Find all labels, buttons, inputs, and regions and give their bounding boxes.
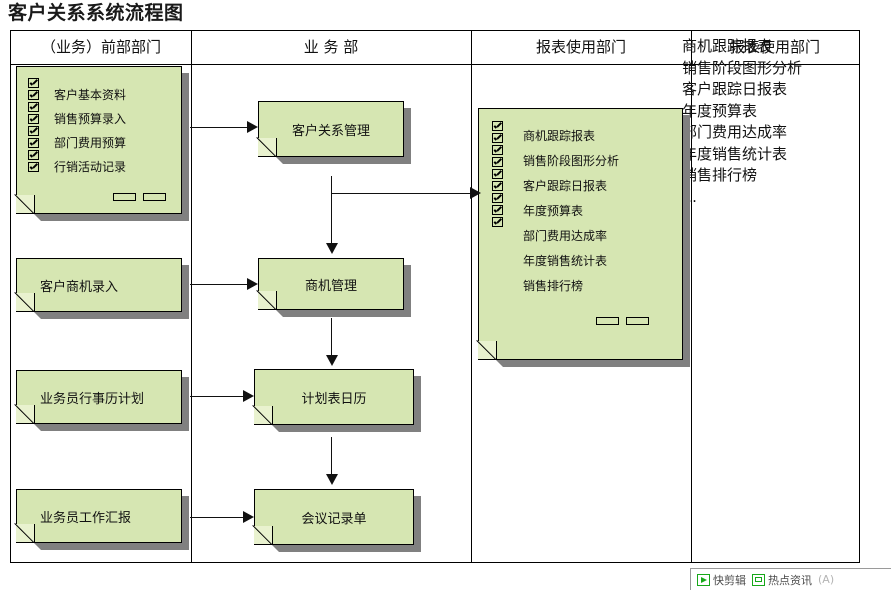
connector-line: [190, 127, 248, 128]
report-list-item: 商机跟踪报表: [682, 36, 850, 58]
news-icon[interactable]: [752, 574, 765, 586]
doc-label: 客户关系管理: [258, 101, 404, 157]
page-title: 客户关系系统流程图: [8, 0, 184, 26]
doc-line: 销售排行榜: [523, 274, 619, 299]
connector-arrow-down: [326, 474, 338, 485]
report-list-ellipsis: …: [682, 187, 850, 209]
doc-schedule-calendar[interactable]: 计划表日历: [254, 369, 414, 425]
doc-line: 部门费用达成率: [523, 224, 619, 249]
report-list-item: 销售阶段图形分析: [682, 58, 850, 80]
doc-line: 年度预算表: [523, 199, 619, 224]
connector-arrow-down: [326, 355, 338, 366]
doc-line-list: 商机跟踪报表 销售阶段图形分析 客户跟踪日报表 年度预算表 部门费用达成率 年度…: [523, 124, 619, 299]
connector-line-vertical: [331, 318, 332, 356]
doc-line: 销售预算录入: [54, 107, 126, 131]
checkbox-icon[interactable]: [28, 138, 39, 148]
doc-line: 年度销售统计表: [523, 249, 619, 274]
checkbox-icon[interactable]: [28, 114, 39, 124]
checkbox-icon[interactable]: [492, 121, 503, 131]
report-list-item: 年度预算表: [682, 101, 850, 123]
doc-fold-corner: [16, 195, 35, 214]
checkbox-icon[interactable]: [28, 78, 39, 88]
toolbar-item-quick-clip[interactable]: 快剪辑: [697, 572, 746, 588]
doc-line: 部门费用预算: [54, 131, 126, 155]
checkbox-icon[interactable]: [492, 133, 503, 143]
checkbox-icon[interactable]: [28, 102, 39, 112]
toolbar-item-circle-a[interactable]: (A): [818, 574, 831, 586]
doc-button[interactable]: [113, 193, 136, 201]
doc-meeting-minutes[interactable]: 会议记录单: [254, 489, 414, 545]
checkbox-icon[interactable]: [492, 145, 503, 155]
doc-button[interactable]: [626, 317, 649, 325]
connector-arrow-right: [470, 187, 481, 199]
checkbox-icon[interactable]: [28, 162, 39, 172]
checkbox-icon[interactable]: [28, 126, 39, 136]
connector-line-vertical: [331, 176, 332, 244]
doc-line-list: 客户基本资料 销售预算录入 部门费用预算 行销活动记录: [54, 83, 126, 179]
connector-line: [331, 193, 471, 194]
doc-line: 客户跟踪日报表: [523, 174, 619, 199]
doc-label: 会议记录单: [254, 489, 414, 545]
checkbox-icon[interactable]: [492, 193, 503, 203]
column-divider-2: [471, 31, 472, 562]
doc-label: 计划表日历: [254, 369, 414, 425]
column-header-business-dept: 业 务 部: [191, 31, 471, 64]
connector-line: [190, 517, 244, 518]
doc-button-group[interactable]: [596, 317, 649, 325]
doc-crm-management[interactable]: 客户关系管理: [258, 101, 404, 157]
report-list-item: 部门费用达成率: [682, 122, 850, 144]
doc-label: 业务员行事历计划: [16, 370, 206, 424]
circle-a-icon[interactable]: (A): [818, 574, 831, 586]
connector-arrow-right: [247, 278, 258, 290]
doc-customer-opportunity-entry[interactable]: 客户商机录入: [16, 258, 182, 312]
doc-salesperson-calendar-plan[interactable]: 业务员行事历计划: [16, 370, 182, 424]
doc-line: 客户基本资料: [54, 83, 126, 107]
report-list-item: 客户跟踪日报表: [682, 79, 850, 101]
doc-line: 销售阶段图形分析: [523, 149, 619, 174]
connector-arrow-right: [243, 390, 254, 402]
checkbox-icon[interactable]: [492, 181, 503, 191]
checkbox-column: [28, 78, 39, 174]
play-icon[interactable]: [697, 574, 710, 586]
doc-button-group[interactable]: [113, 193, 166, 201]
doc-line: 商机跟踪报表: [523, 124, 619, 149]
checkbox-icon[interactable]: [28, 150, 39, 160]
doc-line: 行销活动记录: [54, 155, 126, 179]
connector-line: [190, 396, 244, 397]
report-name-list: 商机跟踪报表 销售阶段图形分析 客户跟踪日报表 年度预算表 部门费用达成率 年度…: [682, 36, 850, 208]
doc-report-output[interactable]: 商机跟踪报表 销售阶段图形分析 客户跟踪日报表 年度预算表 部门费用达成率 年度…: [478, 108, 683, 360]
checkbox-column: [492, 121, 503, 229]
checkbox-icon[interactable]: [492, 217, 503, 227]
doc-opportunity-management[interactable]: 商机管理: [258, 258, 404, 310]
doc-label: 商机管理: [258, 258, 404, 310]
toolbar-item-label: 热点资讯: [768, 572, 812, 588]
doc-label: 业务员工作汇报: [16, 489, 206, 543]
doc-button[interactable]: [596, 317, 619, 325]
report-list-item: 销售排行榜: [682, 165, 850, 187]
doc-button[interactable]: [143, 193, 166, 201]
bottom-toolbar[interactable]: 快剪辑 热点资讯 (A): [690, 568, 891, 590]
connector-arrow-right: [243, 511, 254, 523]
connector-arrow-right: [247, 121, 258, 133]
connector-line: [190, 284, 248, 285]
doc-fold-corner: [478, 341, 497, 360]
checkbox-icon[interactable]: [28, 90, 39, 100]
column-header-report-users-1: 报表使用部门: [471, 31, 691, 64]
checkbox-icon[interactable]: [492, 157, 503, 167]
toolbar-item-label: 快剪辑: [713, 572, 746, 588]
doc-customer-data-entry[interactable]: 客户基本资料 销售预算录入 部门费用预算 行销活动记录: [16, 66, 182, 214]
checkbox-icon[interactable]: [492, 169, 503, 179]
connector-line-vertical: [331, 437, 332, 475]
report-list-item: 年度销售统计表: [682, 144, 850, 166]
column-header-front-office: （业务）前部部门: [11, 31, 191, 64]
checkbox-icon[interactable]: [492, 205, 503, 215]
toolbar-item-hot-news[interactable]: 热点资讯: [752, 572, 812, 588]
doc-label: 客户商机录入: [16, 258, 206, 312]
doc-salesperson-work-report[interactable]: 业务员工作汇报: [16, 489, 182, 543]
connector-arrow-down: [326, 243, 338, 254]
